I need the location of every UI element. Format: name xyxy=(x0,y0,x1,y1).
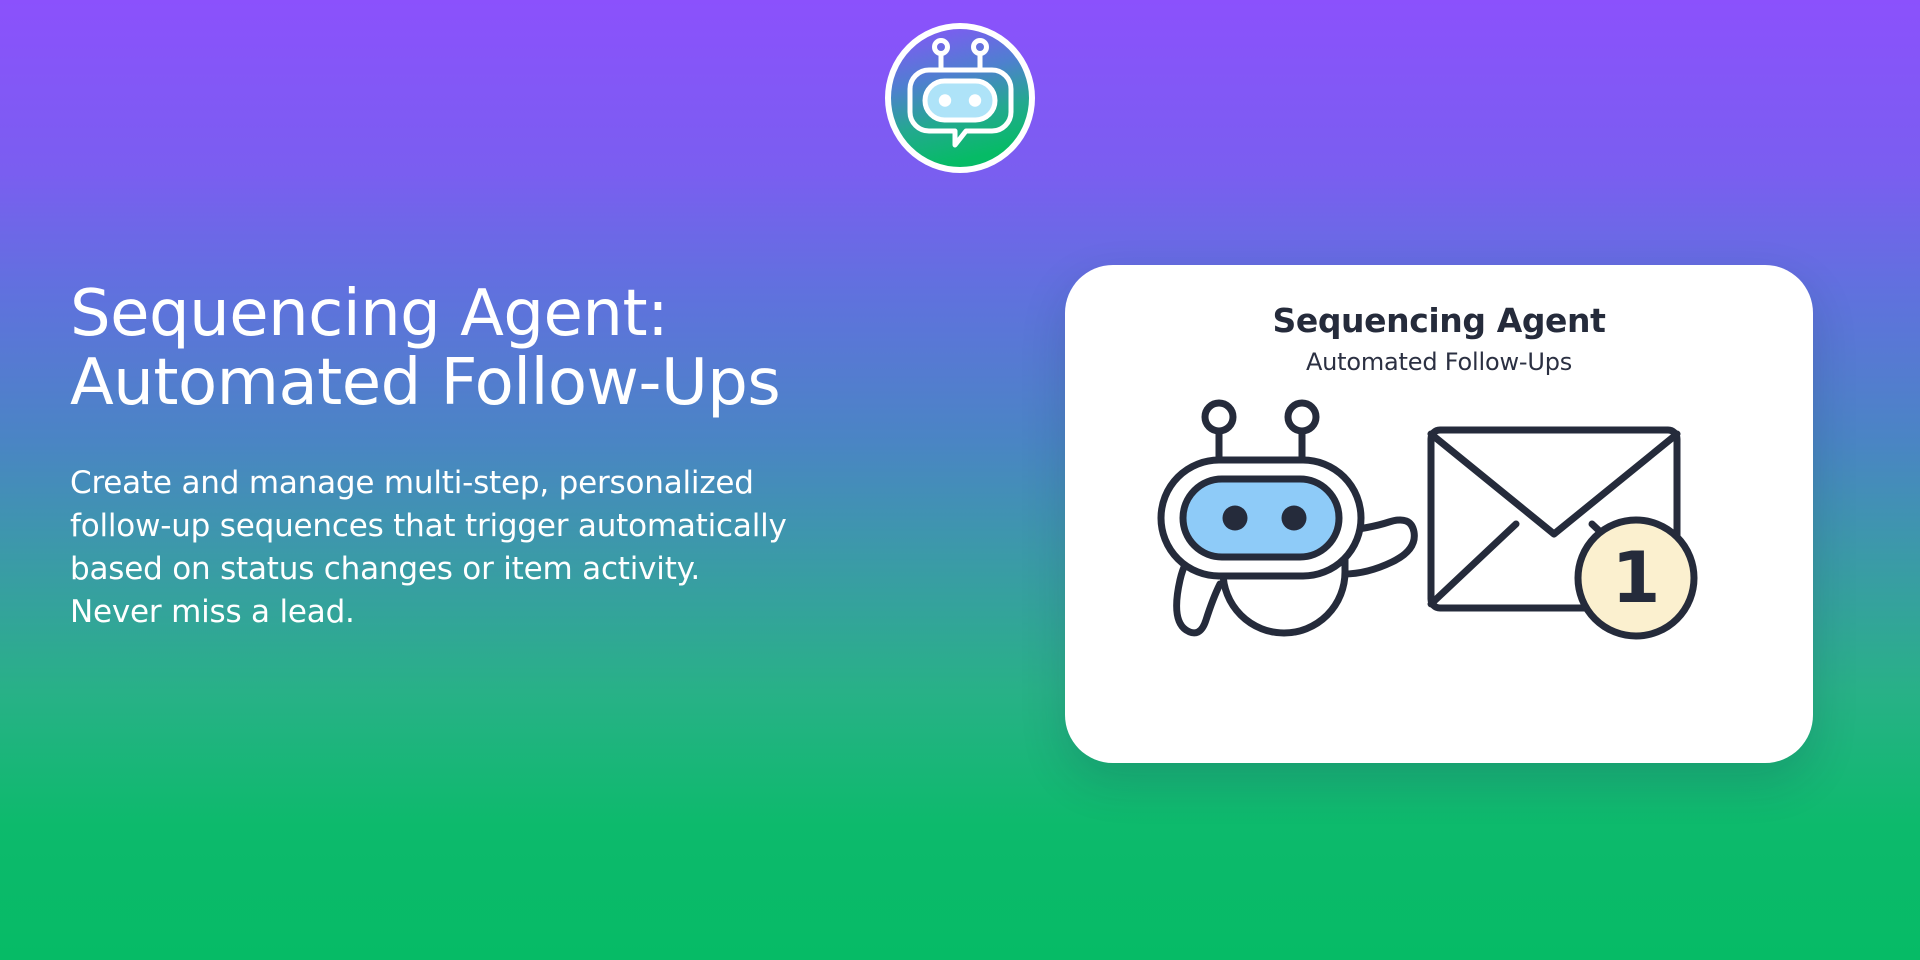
feature-card: Sequencing Agent Automated Follow-Ups xyxy=(1065,265,1813,763)
robot-left-eye xyxy=(1223,506,1248,531)
brand-logo xyxy=(880,18,1040,178)
card-subtitle: Automated Follow-Ups xyxy=(1306,348,1572,376)
robot-right-eye xyxy=(1282,506,1307,531)
card-illustration: 1 xyxy=(1139,382,1739,682)
card-title: Sequencing Agent xyxy=(1272,301,1605,340)
hero-text-block: Sequencing Agent: Automated Follow-Ups C… xyxy=(70,280,860,633)
unread-count-badge: 1 xyxy=(1578,520,1694,636)
robot-face-panel xyxy=(1183,479,1339,557)
page-description: Create and manage multi-step, personaliz… xyxy=(70,462,790,633)
page-title: Sequencing Agent: Automated Follow-Ups xyxy=(70,280,860,418)
badge-count: 1 xyxy=(1612,537,1661,619)
robot-mascot xyxy=(1161,403,1414,633)
